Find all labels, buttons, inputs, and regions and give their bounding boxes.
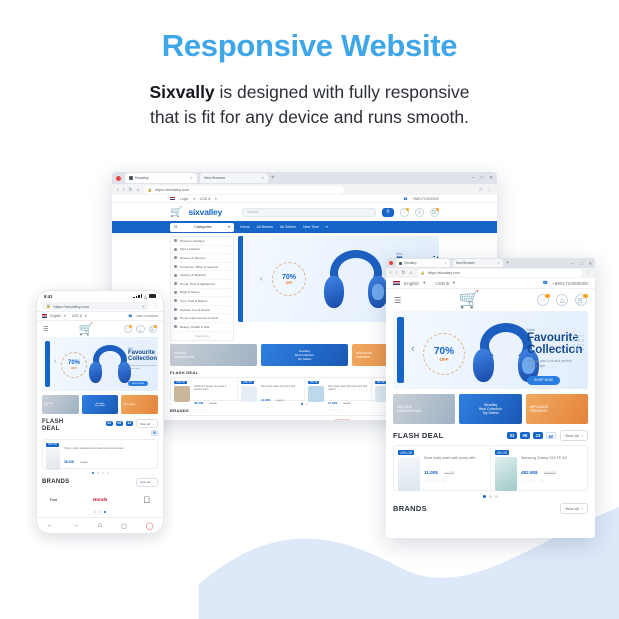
promo-tile-label: SixvalleyTop Sellers bbox=[95, 403, 106, 407]
pager-dot[interactable] bbox=[97, 472, 99, 474]
tablet-tab-0[interactable]: Sixvalley ✕ bbox=[396, 259, 450, 267]
pager-dot[interactable] bbox=[104, 511, 106, 513]
discount-off-label: OFF bbox=[440, 357, 449, 362]
site-search-input[interactable]: Search bbox=[242, 208, 376, 217]
hero-subtitle: Change your look and perfect in your sty… bbox=[128, 365, 158, 371]
category-icon bbox=[174, 274, 177, 277]
category-label: Computer, Office & Security bbox=[180, 265, 218, 269]
product-name: Dove body wash with pump with bbox=[261, 385, 301, 388]
phone-icon: ☎ bbox=[128, 314, 132, 318]
topbar-currency[interactable]: USD $ bbox=[72, 314, 82, 318]
chevron-down-icon[interactable]: ▾ bbox=[423, 280, 425, 286]
close-icon[interactable]: ✕ bbox=[589, 261, 592, 266]
product-old-price: 14.00$ bbox=[343, 403, 350, 405]
tablet-url-bar: ‹ › ↻ ⌂ 🔒 https://sixvalley.com ⋮ bbox=[386, 268, 595, 278]
phone-icon: ☎ bbox=[542, 280, 548, 286]
flash-deal-view-all[interactable]: View all › bbox=[560, 430, 588, 441]
flash-deal-header: FLASH DEAL 31 05 13 View all › bbox=[42, 419, 158, 436]
category-item[interactable]: Bags & Shoes › bbox=[171, 289, 233, 298]
close-icon[interactable]: ✕ bbox=[142, 304, 145, 309]
timer-hours: 05 bbox=[116, 421, 123, 427]
topbar-currency[interactable]: USD $ bbox=[435, 281, 449, 286]
product-card[interactable]: 10% Off Dove body wash with pump with 11… bbox=[238, 378, 305, 400]
promo-tile-0[interactable]: GOLDENSAMSUNG M31 bbox=[393, 394, 455, 424]
flash-deal-controls: 31 05 13 View all › 50 bbox=[106, 419, 158, 436]
reload-icon[interactable]: ↻ bbox=[128, 187, 132, 193]
chevron-down-icon[interactable]: ▾ bbox=[85, 314, 87, 318]
product-card[interactable]: 30% Off Timex marlin stainless steel han… bbox=[43, 440, 157, 468]
cart-badge bbox=[583, 294, 588, 299]
brands-view-all[interactable]: View all › bbox=[136, 478, 158, 487]
promo-tile-2[interactable]: APPLIANCE bbox=[121, 395, 158, 414]
category-item[interactable]: Beauty, Health & Hair › bbox=[171, 323, 233, 332]
url-text: https://sixvalley.com bbox=[53, 304, 89, 309]
chevron-right-icon: › bbox=[229, 290, 230, 294]
nav-link-sellers[interactable]: All Sellers bbox=[280, 225, 296, 229]
hero-prev-arrow[interactable]: ‹ bbox=[260, 274, 263, 283]
category-label: Men's Fashion bbox=[180, 247, 200, 251]
chevron-down-icon: ▾ bbox=[228, 225, 230, 229]
bottle-icon bbox=[308, 386, 324, 402]
category-label: Toys, Kids & Babies bbox=[180, 299, 207, 303]
home-icon[interactable]: ⌂ bbox=[137, 187, 140, 193]
reload-icon[interactable]: ↻ bbox=[401, 270, 405, 276]
flash-deal-controls: 31 05 13 50 View all › bbox=[507, 430, 588, 441]
promo-tiles: GOLDENM31 SixvalleyTop Sellers APPLIANCE bbox=[37, 391, 163, 414]
discount-badge: 5% Off bbox=[495, 450, 509, 455]
desktop-window-bar: Sixvalley ✕ New Browser ✕ + ─ □ ✕ bbox=[112, 172, 497, 184]
product-rating: ☆☆☆☆☆ bbox=[64, 468, 154, 471]
compare-icon[interactable]: △ bbox=[136, 325, 145, 334]
chevron-right-icon: › bbox=[229, 265, 230, 269]
discount-badge: 30% Off bbox=[46, 443, 59, 447]
header-icon-group: ♡ △ 🛒 bbox=[124, 325, 158, 334]
flash-deal-list: 10% Off Dove body wash with pump with 11… bbox=[393, 445, 588, 491]
brand-logo[interactable]: Honda bbox=[93, 497, 107, 502]
chevron-right-icon: › bbox=[229, 299, 230, 303]
pager-dot[interactable] bbox=[301, 403, 303, 405]
chevron-right-icon: › bbox=[229, 316, 230, 320]
product-rating: ☆☆☆☆☆ bbox=[261, 406, 301, 409]
hero-accent-stripe bbox=[238, 236, 243, 322]
tab-favicon-icon bbox=[399, 262, 402, 265]
shopping-cart-icon[interactable]: 🛒 bbox=[170, 207, 182, 218]
timer-minutes: 13 bbox=[126, 421, 133, 427]
site-header: ☰ 🛒 ♡ △ 🛒 bbox=[386, 289, 595, 311]
product-card[interactable]: 15% Off Sofabed 3 sleeper set velvet 3 s… bbox=[171, 378, 238, 400]
category-icon bbox=[174, 265, 177, 268]
mobile-status-bar: 9:41 △ bbox=[37, 291, 163, 301]
subtitle-line1: is designed with fully responsive bbox=[215, 82, 470, 102]
brands-list: Ford Honda  bbox=[42, 490, 158, 510]
mobile-bottom-nav: ← → ⌂ ◻ ◯ bbox=[37, 517, 163, 533]
hero-subtitle: Change your look and perfect in your sty… bbox=[527, 359, 573, 368]
categories-label: Categories bbox=[194, 225, 211, 229]
product-card[interactable]: 10% Off Dove body wash with pump with 11… bbox=[394, 446, 491, 490]
category-item[interactable]: Jewelry & Watches › bbox=[171, 271, 233, 280]
desktop-tabstrip: Sixvalley ✕ New Browser ✕ + bbox=[125, 173, 467, 183]
hamburger-menu-icon[interactable]: ☰ bbox=[394, 296, 401, 305]
category-sidebar: Women's Fashion › Men's Fashion › Phones… bbox=[170, 236, 234, 341]
site-header: 🛒 sixvalley Search ⚲ ♡ △ 🛒 bbox=[112, 203, 497, 221]
tab-label: Sixvalley bbox=[404, 261, 417, 265]
lock-icon: 🔒 bbox=[421, 271, 425, 275]
mobile-phone-mockup: 9:41 △ 🔒 https://sixvalley.com ✕ ⋮ Engli… bbox=[36, 290, 164, 534]
product-old-price: 54.00$ bbox=[80, 461, 87, 464]
browser-logo-icon bbox=[389, 261, 393, 265]
tablet-window-bar: Sixvalley ✕ New Browser ✕ + ─ □ ✕ bbox=[386, 258, 595, 268]
category-icon bbox=[174, 308, 177, 311]
wishlist-badge bbox=[129, 325, 132, 328]
back-icon[interactable]: ← bbox=[46, 522, 53, 529]
us-flag-icon bbox=[170, 197, 175, 200]
forward-icon[interactable]: → bbox=[72, 522, 79, 529]
maximize-icon[interactable]: □ bbox=[481, 175, 484, 181]
shopping-cart-icon[interactable]: 🛒 bbox=[459, 290, 480, 310]
brands-view-all[interactable]: View all › bbox=[560, 503, 588, 514]
site-logo-text[interactable]: sixvalley bbox=[188, 207, 222, 217]
browser-logo-icon bbox=[116, 176, 121, 181]
tab-favicon-icon bbox=[129, 176, 133, 180]
site-main-nav: ☷ Categories ▾ Home All Brands All Selle… bbox=[112, 221, 497, 233]
phone-product-icon bbox=[495, 457, 517, 491]
hero-text-block: New Favourite Collection Change your loo… bbox=[128, 347, 158, 389]
us-flag-icon bbox=[42, 314, 47, 317]
forward-icon[interactable]: › bbox=[123, 187, 125, 193]
tab-label: Sixvalley bbox=[135, 176, 149, 180]
close-icon[interactable]: ✕ bbox=[489, 175, 493, 181]
star-icon[interactable]: ☆ bbox=[479, 187, 483, 193]
tab-close-icon[interactable]: ✕ bbox=[497, 261, 500, 265]
nav-links: Home All Brands All Sellers New Time ▾ bbox=[240, 225, 328, 229]
chevron-down-icon[interactable]: ▾ bbox=[215, 197, 217, 201]
topbar-language[interactable]: English bbox=[404, 281, 419, 286]
promo-tile-2[interactable]: APPLIANCETRENDING bbox=[526, 394, 588, 424]
flash-deal-list: 30% Off Timex marlin stainless steel han… bbox=[42, 439, 158, 469]
product-price: 38.20$ bbox=[64, 460, 74, 464]
pager-dot[interactable] bbox=[94, 511, 96, 513]
timer-seconds: 50 bbox=[151, 430, 158, 436]
flash-deal-header: FLASH DEAL 31 05 13 50 View all › bbox=[393, 430, 588, 441]
category-icon bbox=[174, 317, 177, 320]
hero-wrap: ‹ 70% OFF New Favourite Collection Chang… bbox=[37, 337, 163, 391]
topbar-phone: +8801710000000 bbox=[135, 314, 158, 318]
category-item[interactable]: Home Improvement & Tools › bbox=[171, 314, 233, 323]
pager-dot[interactable] bbox=[102, 472, 104, 474]
topbar-currency[interactable]: USD $ bbox=[200, 197, 210, 201]
category-label: Home, Pets & Appliances bbox=[180, 282, 215, 286]
flash-deal-title: FLASH DEAL bbox=[170, 370, 198, 375]
tab-close-icon[interactable]: ✕ bbox=[190, 176, 193, 180]
discount-badge: 70% OFF bbox=[423, 333, 465, 375]
promo-tile-0[interactable]: GOLDENM31 bbox=[42, 395, 79, 414]
category-item[interactable]: Computer, Office & Security › bbox=[171, 263, 233, 272]
mobile-address-input[interactable]: 🔒 https://sixvalley.com ✕ bbox=[42, 302, 149, 310]
tablet-window-controls[interactable]: ─ □ ✕ bbox=[571, 261, 592, 266]
product-price: 11.00$ bbox=[328, 401, 337, 405]
promo-tile-label: SixvalleyBest CollectionTop Sellers bbox=[295, 349, 314, 361]
timer-minutes: 13 bbox=[533, 432, 543, 439]
category-icon bbox=[174, 291, 177, 294]
product-old-price: 506.00$ bbox=[544, 471, 556, 475]
pager-dot[interactable] bbox=[495, 495, 498, 498]
timer-days: 31 bbox=[507, 432, 517, 439]
compare-icon[interactable]: △ bbox=[415, 208, 424, 217]
flash-deal-view-all[interactable]: View all › bbox=[136, 419, 158, 428]
category-label: Home Improvement & Tools bbox=[180, 316, 218, 320]
product-price: 482.90$ bbox=[521, 470, 538, 475]
promo-tile-label: GOLDENSAMSUNG M31 bbox=[397, 405, 422, 413]
minimize-icon[interactable]: ─ bbox=[571, 261, 574, 266]
timer-days: 31 bbox=[106, 421, 113, 427]
battery-icon bbox=[149, 294, 156, 298]
product-name: Sofabed 3 sleeper set velvet 3 spindle c… bbox=[194, 385, 234, 391]
search-icon[interactable]: ⚲ bbox=[382, 208, 394, 217]
chevron-right-icon: › bbox=[153, 480, 154, 484]
categories-dropdown[interactable]: ☷ Categories ▾ bbox=[170, 223, 234, 232]
promo-tile-label: APPLIANCE bbox=[123, 404, 135, 406]
tab-close-icon[interactable]: ✕ bbox=[444, 261, 447, 265]
site-topbar: English ▾ USD $ ▾ ☎ +8801710000000 bbox=[37, 312, 163, 321]
desktop-url-bar: ‹ › ↻ ⌂ 🔒 https://sixvalley.com ☆ ⋮ bbox=[112, 184, 497, 195]
maximize-icon[interactable]: □ bbox=[580, 261, 582, 266]
timer-seconds: 50 bbox=[546, 432, 556, 439]
chevron-down-icon[interactable]: ▾ bbox=[64, 314, 66, 318]
product-price: 11.00$ bbox=[261, 398, 270, 402]
promo-tile-label: GOLDENM31 bbox=[44, 403, 53, 407]
cart-icon[interactable]: 🛒 bbox=[149, 325, 158, 334]
site-topbar: Login ▾ USD $ ▾ ☎ +8801710000000 bbox=[112, 195, 497, 203]
flash-deal-timer: 31 05 13 bbox=[106, 421, 133, 427]
promo-tile-1[interactable]: SixvalleyTop Sellers bbox=[82, 395, 119, 414]
topbar-phone: +8801710000000 bbox=[413, 197, 440, 201]
pager-dot[interactable] bbox=[92, 472, 94, 474]
compare-icon[interactable]: △ bbox=[556, 294, 568, 306]
category-item[interactable]: Home, Pets & Appliances › bbox=[171, 280, 233, 289]
category-icon bbox=[174, 239, 177, 242]
discount-badge: 70% OFF bbox=[61, 352, 87, 378]
brands-pager[interactable] bbox=[42, 511, 158, 513]
page-subtitle: Sixvally is designed with fully responsi… bbox=[0, 80, 619, 130]
product-info: Dove body wash with pump with skin natur… bbox=[328, 385, 368, 397]
brand-name: Sixvally bbox=[149, 82, 214, 102]
back-icon[interactable]: ‹ bbox=[117, 187, 119, 193]
promo-tile-1[interactable]: SixvalleyBest CollectionTop Sellers bbox=[261, 344, 348, 366]
view-all-label: View all bbox=[565, 506, 579, 511]
pager-dot[interactable] bbox=[489, 495, 492, 498]
page-title: Responsive Website bbox=[0, 28, 619, 64]
hero-title-line2: Collection bbox=[128, 356, 158, 362]
flash-deal-section: FLASH DEAL 31 05 13 View all › bbox=[37, 414, 163, 474]
desktop-tab-1[interactable]: New Browser ✕ bbox=[200, 173, 268, 183]
tablet-browser-mockup: Sixvalley ✕ New Browser ✕ + ─ □ ✕ ‹ › ↻ … bbox=[386, 258, 595, 538]
discount-off-label: OFF bbox=[71, 366, 77, 370]
brands-section: BRANDS View all › Ford Honda  bbox=[37, 474, 163, 513]
hero-cta-button[interactable]: SHOP NOW bbox=[527, 376, 560, 385]
promo-tile-label: APPLIANCETRENDING bbox=[356, 351, 372, 359]
category-label: Phones & Telecom bbox=[180, 256, 206, 260]
category-item[interactable]: Phones & Telecom › bbox=[171, 254, 233, 263]
pager-dot[interactable] bbox=[99, 511, 101, 513]
new-tab-button[interactable]: + bbox=[271, 175, 275, 181]
flash-deal-timer: 31 05 13 50 bbox=[507, 432, 556, 439]
menu-icon[interactable]: ⋮ bbox=[487, 187, 492, 193]
product-card[interactable]: 8% Off Dove body wash with pump with ski… bbox=[305, 378, 372, 400]
discount-badge: 15% Off bbox=[174, 381, 187, 384]
product-info: Dove body wash with pump with 11.00$ 14.… bbox=[261, 385, 301, 397]
desktop-window-controls[interactable]: ─ □ ✕ bbox=[471, 175, 493, 181]
page-root: Responsive Website Sixvally is designed … bbox=[0, 0, 619, 619]
discount-off-label: OFF bbox=[286, 281, 293, 285]
chevron-right-icon: › bbox=[229, 256, 230, 260]
hamburger-menu-icon[interactable]: ☰ bbox=[43, 326, 48, 333]
tablet-tab-1[interactable]: New Browser ✕ bbox=[453, 259, 503, 267]
brands-header: BRANDS View all › bbox=[386, 498, 595, 514]
hero-prev-arrow[interactable]: ‹ bbox=[411, 343, 415, 355]
discount-percent: 70% bbox=[434, 346, 454, 357]
hero-accent-stripe bbox=[45, 341, 50, 387]
nav-link-home[interactable]: Home bbox=[240, 225, 250, 229]
category-icon bbox=[174, 299, 177, 302]
category-item[interactable]: Women's Fashion › bbox=[171, 237, 233, 246]
chevron-right-icon: › bbox=[582, 506, 583, 511]
flash-deal-title: FLASH DEAL bbox=[42, 419, 64, 433]
chevron-right-icon: › bbox=[153, 422, 154, 426]
wishlist-badge bbox=[406, 208, 410, 212]
url-text: https://sixvalley.com bbox=[428, 271, 460, 275]
chevron-down-icon[interactable]: ▾ bbox=[193, 197, 195, 201]
new-tab-button[interactable]: + bbox=[506, 260, 509, 266]
discount-badge: 10% Off bbox=[398, 450, 414, 455]
wishlist-badge bbox=[545, 294, 550, 299]
pager-dot[interactable] bbox=[483, 495, 486, 498]
discount-percent: 70% bbox=[282, 274, 296, 281]
category-label: Women's Fashion bbox=[180, 239, 205, 243]
discount-badge: 5% Off bbox=[375, 381, 386, 384]
category-icon bbox=[174, 282, 177, 285]
wishlist-icon[interactable]: ♡ bbox=[400, 208, 409, 217]
phone-icon: ☎ bbox=[403, 197, 407, 201]
hero-banner: ‹ 70% OFF New Favourite Collection Chang… bbox=[42, 337, 158, 391]
brands-title: BRANDS bbox=[393, 504, 427, 513]
product-card[interactable]: 5% Off Samsung Galaxy S20 FE 5G 482.90$ … bbox=[491, 446, 587, 490]
category-label: Outdoor Fun & Sports bbox=[180, 308, 210, 312]
bottle-icon bbox=[398, 457, 420, 491]
product-rating: ☆☆☆☆☆ (0) bbox=[424, 479, 486, 483]
brands-header: BRANDS View all › bbox=[42, 478, 158, 487]
wishlist-icon[interactable]: ♡ bbox=[537, 294, 549, 306]
hero-cta-button[interactable]: SHOP NOW bbox=[128, 381, 148, 386]
sofa-icon bbox=[174, 386, 190, 402]
category-label: Jewelry & Watches bbox=[180, 273, 206, 277]
status-time: 9:41 bbox=[44, 294, 52, 299]
promo-tile-1[interactable]: SixvalleyBest CollectionTop Sellers bbox=[459, 394, 521, 424]
flash-deal-title: FLASH DEAL bbox=[393, 431, 444, 440]
cart-badge bbox=[436, 208, 440, 212]
brand-logo[interactable]: Kodak bbox=[335, 419, 350, 420]
chevron-right-icon: › bbox=[229, 325, 230, 329]
menu-icon[interactable]: ⋮ bbox=[586, 270, 591, 276]
tabs-icon[interactable]: ◻ bbox=[121, 522, 127, 530]
promo-tile-label: APPLIANCETRENDING bbox=[530, 405, 549, 413]
category-item[interactable]: Toys, Kids & Babies › bbox=[171, 297, 233, 306]
tab-close-icon[interactable]: ✕ bbox=[261, 176, 264, 180]
category-item[interactable]: Outdoor Fun & Sports › bbox=[171, 306, 233, 315]
hero-dot-pattern bbox=[573, 335, 584, 351]
menu-icon[interactable]: ◯ bbox=[146, 522, 154, 530]
header-icon-group: ♡ △ 🛒 bbox=[400, 208, 439, 217]
discount-badge: 10% Off bbox=[241, 381, 254, 384]
chevron-right-icon: › bbox=[582, 433, 583, 438]
flash-deal-section: FLASH DEAL 31 05 13 50 View all › bbox=[386, 424, 595, 498]
view-all-label: View all bbox=[140, 422, 150, 426]
url-text: https://sixvalley.com bbox=[155, 188, 189, 192]
nav-link-newtime[interactable]: New Time bbox=[303, 225, 319, 229]
cart-badge bbox=[154, 325, 157, 328]
tablet-tabstrip: Sixvalley ✕ New Browser ✕ + bbox=[396, 259, 568, 267]
bottle-icon bbox=[241, 386, 257, 402]
cart-icon[interactable]: 🛒 bbox=[575, 294, 587, 306]
pager-dot[interactable] bbox=[306, 403, 308, 405]
topbar-login[interactable]: Login bbox=[180, 197, 188, 201]
tablet-site: English ▾ USD $ ▾ ☎ +8801710000000 ☰ 🛒 ♡… bbox=[386, 278, 595, 514]
categories-view-more[interactable]: View more bbox=[171, 332, 233, 340]
tab-label: New Browser bbox=[204, 176, 225, 180]
view-all-label: View all bbox=[140, 480, 150, 484]
chevron-right-icon: › bbox=[229, 273, 230, 277]
site-header: ☰ 🛒 ♡ △ 🛒 bbox=[37, 321, 163, 337]
hero-wrap: ‹ 70% OFF New Favourite Collect bbox=[386, 311, 595, 389]
category-item[interactable]: Men's Fashion › bbox=[171, 246, 233, 255]
category-icon bbox=[174, 248, 177, 251]
header-icon-group: ♡ △ 🛒 bbox=[537, 294, 587, 306]
minimize-icon[interactable]: ─ bbox=[471, 175, 474, 181]
home-icon[interactable]: ⌂ bbox=[98, 522, 102, 529]
back-icon[interactable]: ‹ bbox=[390, 270, 392, 276]
forward-icon[interactable]: › bbox=[396, 270, 398, 276]
product-name: Timex marlin stainless steel hand-wound … bbox=[64, 447, 154, 450]
signal-icon bbox=[133, 294, 142, 298]
wifi-icon: △ bbox=[144, 294, 147, 299]
wishlist-icon[interactable]: ♡ bbox=[124, 325, 133, 334]
product-old-price: 46.00$ bbox=[210, 403, 217, 405]
tablet-address-input[interactable]: 🔒 https://sixvalley.com bbox=[417, 269, 582, 277]
lock-icon: 🔒 bbox=[46, 304, 50, 308]
desktop-tab-0[interactable]: Sixvalley ✕ bbox=[125, 173, 197, 183]
nav-link-brands[interactable]: All Brands bbox=[257, 225, 273, 229]
chevron-right-icon: › bbox=[229, 239, 230, 243]
menu-icon[interactable]: ⋮ bbox=[153, 303, 158, 309]
home-icon[interactable]: ⌂ bbox=[410, 270, 413, 276]
brand-logo[interactable]: Ford bbox=[50, 498, 57, 502]
product-old-price: 14.00$ bbox=[276, 400, 283, 402]
chevron-down-icon[interactable]: ▾ bbox=[453, 280, 455, 286]
product-info: Sofabed 3 sleeper set velvet 3 spindle c… bbox=[194, 385, 234, 397]
pager-dot[interactable] bbox=[107, 472, 109, 474]
promo-tile-0[interactable]: GOLDENSAMSUNG M31 bbox=[170, 344, 257, 366]
apple-icon[interactable]:  bbox=[143, 495, 150, 505]
cart-icon[interactable]: 🛒 bbox=[430, 208, 439, 217]
flash-title-line2: DEAL bbox=[42, 426, 64, 433]
hero-prev-arrow[interactable]: ‹ bbox=[54, 358, 56, 365]
desktop-address-input[interactable]: 🔒 https://sixvalley.com bbox=[144, 186, 344, 194]
topbar-language[interactable]: English bbox=[50, 314, 61, 318]
shopping-cart-icon[interactable]: 🛒 bbox=[78, 322, 93, 336]
chevron-down-icon[interactable]: ▾ bbox=[326, 225, 328, 229]
product-rating: ☆☆☆☆☆ bbox=[328, 409, 368, 412]
product-name: Samsung Galaxy S20 FE 5G bbox=[521, 456, 583, 461]
chevron-right-icon: › bbox=[229, 308, 230, 312]
